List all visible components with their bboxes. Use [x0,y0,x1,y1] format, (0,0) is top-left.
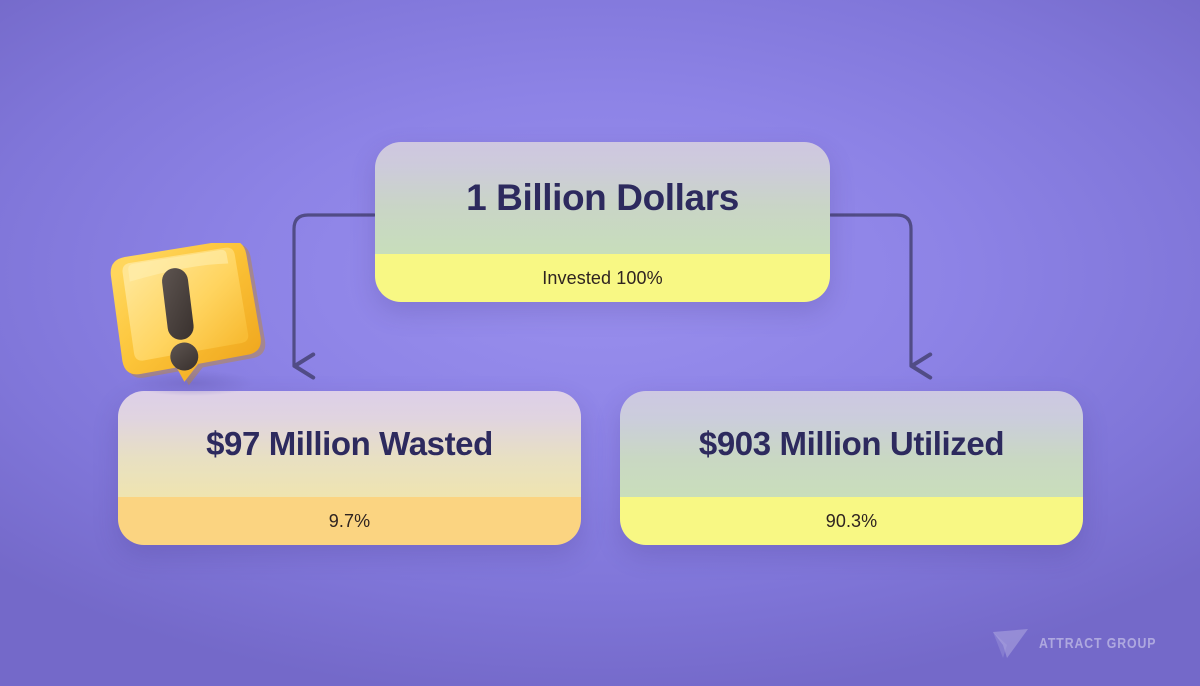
watermark: ATTRACT GROUP [990,626,1182,660]
card-utilized-body: $903 Million Utilized [620,391,1083,497]
watermark-text: ATTRACT GROUP [1039,635,1156,652]
card-wasted-footer-label: 9.7% [329,511,370,532]
card-wasted-title: $97 Million Wasted [206,426,493,462]
card-utilized-footer: 90.3% [620,497,1083,545]
paper-plane-icon [990,626,1030,660]
card-wasted-body: $97 Million Wasted [118,391,581,497]
card-utilized-footer-label: 90.3% [826,511,878,532]
card-wasted-footer: 9.7% [118,497,581,545]
card-utilized: $903 Million Utilized 90.3% [620,391,1083,545]
card-utilized-title: $903 Million Utilized [699,426,1004,462]
alert-exclamation-bubble-icon [100,243,275,398]
infographic-canvas: 1 Billion Dollars Invested 100% $97 Mill… [0,0,1200,686]
card-total-body: 1 Billion Dollars [375,142,830,254]
connector-left-path [294,215,374,366]
connector-right-path [831,215,911,366]
card-total-footer: Invested 100% [375,254,830,302]
card-total-title: 1 Billion Dollars [466,178,739,219]
card-wasted: $97 Million Wasted 9.7% [118,391,581,545]
card-total-investment: 1 Billion Dollars Invested 100% [375,142,830,302]
card-total-footer-label: Invested 100% [542,268,662,289]
